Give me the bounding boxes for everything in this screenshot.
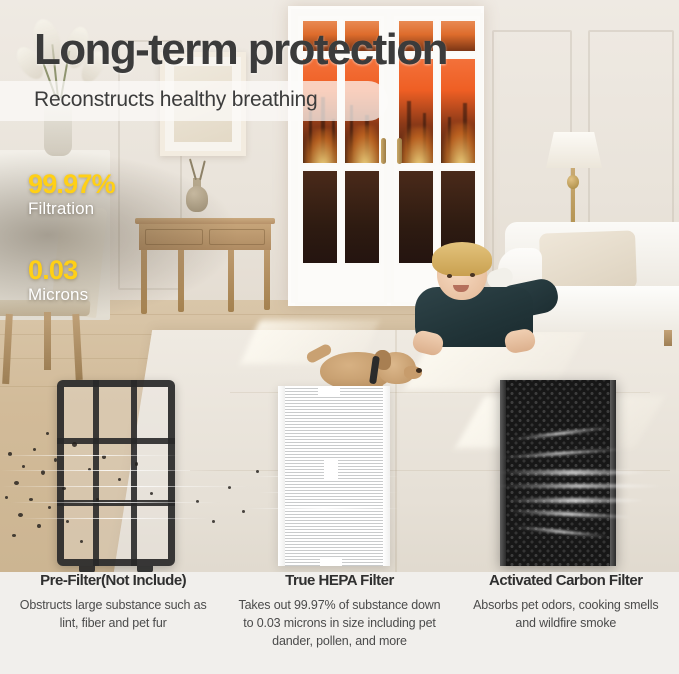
caption-pre-filter-title: Pre-Filter(Not Include) [10,572,216,589]
caption-carbon-filter: Activated Carbon Filter Absorbs pet odor… [453,572,679,674]
floor-lamp-knob [567,175,579,189]
hepa-notch-top [318,386,340,396]
console-table-body [139,224,271,250]
sofa-cushion [539,230,637,291]
pre-filter-product-image [57,380,175,566]
caption-pre-filter-text: Obstructs large substance such as lint, … [10,596,216,632]
page-subtitle: Reconstructs healthy breathing [34,88,318,112]
caption-carbon-filter-title: Activated Carbon Filter [463,572,669,589]
hepa-side-right [383,386,390,566]
page-title: Long-term protection [34,28,447,72]
caption-hepa-filter-title: True HEPA Filter [236,572,442,589]
console-drawer-right [209,229,265,245]
caption-hepa-filter-text: Takes out 99.97% of substance down to 0.… [236,596,442,650]
carbon-honeycomb-mesh [500,380,616,566]
hepa-notch-bottom [320,557,342,566]
stat-microns-label: Microns [28,284,88,306]
console-leg-4 [264,250,270,310]
stat-microns: 0.03 Microns [28,256,88,306]
carbon-edge-left [500,380,506,566]
boy-eye-left [447,274,452,278]
carbon-edge-right [610,380,616,566]
hepa-side-left [278,386,285,566]
door-handle-left[interactable] [381,138,386,164]
boy-eye-right [470,273,475,277]
stat-filtration-value: 99.97% [28,170,115,198]
door-pane-r5 [397,169,435,265]
product-feature-poster: Long-term protection Reconstructs health… [0,0,679,674]
pre-filter-frame [57,380,175,566]
dog-nose [416,368,422,373]
boy-hair [432,242,492,276]
floor-lamp-shade [546,132,602,168]
stat-microns-value: 0.03 [28,256,88,284]
stat-filtration-label: Filtration [28,198,115,220]
caption-hepa-filter: True HEPA Filter Takes out 99.97% of sub… [226,572,452,674]
pre-filter-hbar-2 [57,500,175,506]
door-handle-right[interactable] [397,138,402,164]
door-pane-l5 [301,169,339,265]
door-pane-l6 [343,169,381,265]
hepa-filter-product-image [278,386,390,566]
carbon-filter-product-image [500,380,616,566]
console-drawer-left [145,229,203,245]
stat-filtration: 99.97% Filtration [28,170,115,220]
table-vase [186,186,208,212]
stool-leg-3 [44,312,51,370]
sofa-leg-2 [664,330,672,346]
pre-filter-vbar-1 [93,380,99,566]
console-leg-3 [228,250,234,312]
console-leg-1 [141,250,147,314]
caption-carbon-filter-text: Absorbs pet odors, cooking smells and wi… [463,596,669,632]
pre-filter-vbar-2 [131,380,137,566]
filter-captions-row: Pre-Filter(Not Include) Obstructs large … [0,572,679,674]
caption-pre-filter: Pre-Filter(Not Include) Obstructs large … [0,572,226,674]
hepa-notch-mid [324,458,338,480]
console-leg-2 [178,250,184,312]
